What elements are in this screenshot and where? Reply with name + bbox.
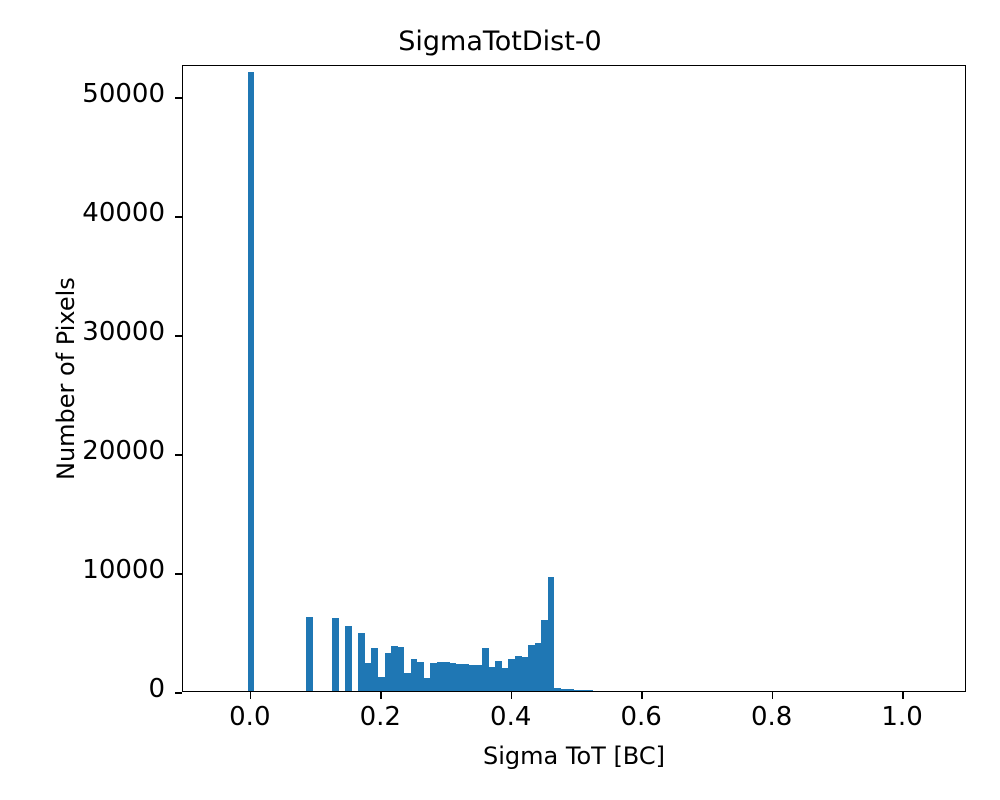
x-tick-label: 0.4 (451, 702, 571, 732)
x-axis-label: Sigma ToT [BC] (182, 742, 966, 770)
histogram-bar (248, 72, 255, 691)
histogram-bar (476, 665, 483, 691)
y-tick-label: 40000 (0, 198, 165, 228)
y-tick-label: 30000 (0, 317, 165, 347)
y-tick-label: 0 (0, 674, 165, 704)
plot-clip (183, 66, 965, 691)
histogram-bar (430, 663, 437, 691)
histogram-bar (548, 577, 555, 691)
y-tick-mark (175, 335, 182, 337)
x-tick-mark (641, 692, 643, 699)
histogram-bar (371, 648, 378, 691)
plot-area (182, 65, 966, 692)
histogram-bar (515, 656, 522, 691)
histogram-bar (489, 667, 496, 691)
histogram-bar (345, 626, 352, 691)
y-tick-mark (175, 573, 182, 575)
x-tick-label: 1.0 (842, 702, 962, 732)
y-tick-mark (175, 692, 182, 694)
histogram-bar (587, 690, 594, 691)
x-tick-mark (772, 692, 774, 699)
histogram-bar (456, 664, 463, 691)
y-tick-label: 20000 (0, 436, 165, 466)
histogram-bar (398, 647, 405, 691)
x-tick-mark (250, 692, 252, 699)
x-tick-mark (511, 692, 513, 699)
chart-title: SigmaTotDist-0 (0, 26, 1000, 57)
x-tick-label: 0.8 (712, 702, 832, 732)
y-tick-mark (175, 454, 182, 456)
y-tick-label: 50000 (0, 79, 165, 109)
histogram-bar (385, 653, 392, 691)
y-tick-mark (175, 216, 182, 218)
x-tick-label: 0.0 (190, 702, 310, 732)
histogram-bar (306, 617, 313, 691)
x-tick-mark (902, 692, 904, 699)
y-axis-label: Number of Pixels (52, 277, 80, 480)
histogram-bar (443, 662, 450, 691)
x-tick-label: 0.6 (581, 702, 701, 732)
x-tick-label: 0.2 (320, 702, 440, 732)
histogram-bar (535, 643, 542, 691)
histogram-bar (411, 659, 418, 691)
histogram-bar (502, 668, 509, 691)
y-tick-mark (175, 97, 182, 99)
histogram-bar (561, 689, 568, 691)
x-tick-mark (380, 692, 382, 699)
chart-figure: SigmaTotDist-0 0.00.20.40.60.81.0 010000… (0, 0, 1000, 800)
y-tick-label: 10000 (0, 555, 165, 585)
histogram-bar (332, 618, 339, 691)
histogram-bars (183, 66, 965, 691)
histogram-bar (580, 690, 587, 691)
